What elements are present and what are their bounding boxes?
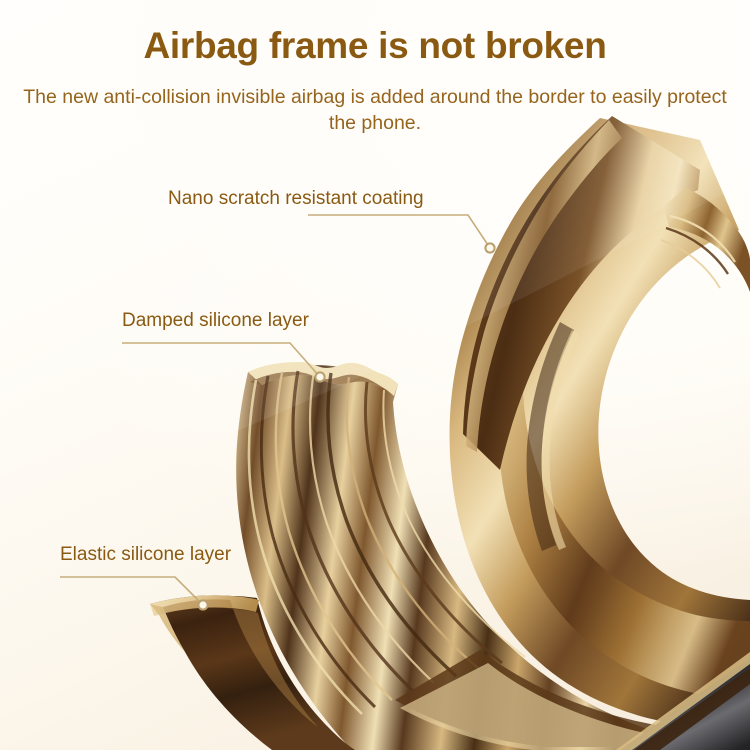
leader-dot-2 (315, 372, 324, 381)
leader-dot-3 (198, 600, 207, 609)
product-feature-graphic: Airbag frame is not broken The new anti-… (0, 0, 750, 750)
callout-leader-lines (0, 0, 750, 750)
callout-label-nano-coating: Nano scratch resistant coating (168, 189, 424, 208)
callout-label-damped-silicone: Damped silicone layer (122, 311, 309, 330)
leader-dot-1 (485, 243, 494, 252)
leader-line-2 (122, 343, 320, 377)
callout-label-elastic-silicone: Elastic silicone layer (60, 545, 231, 564)
leader-line-1 (308, 215, 490, 248)
leader-line-3 (60, 577, 203, 605)
